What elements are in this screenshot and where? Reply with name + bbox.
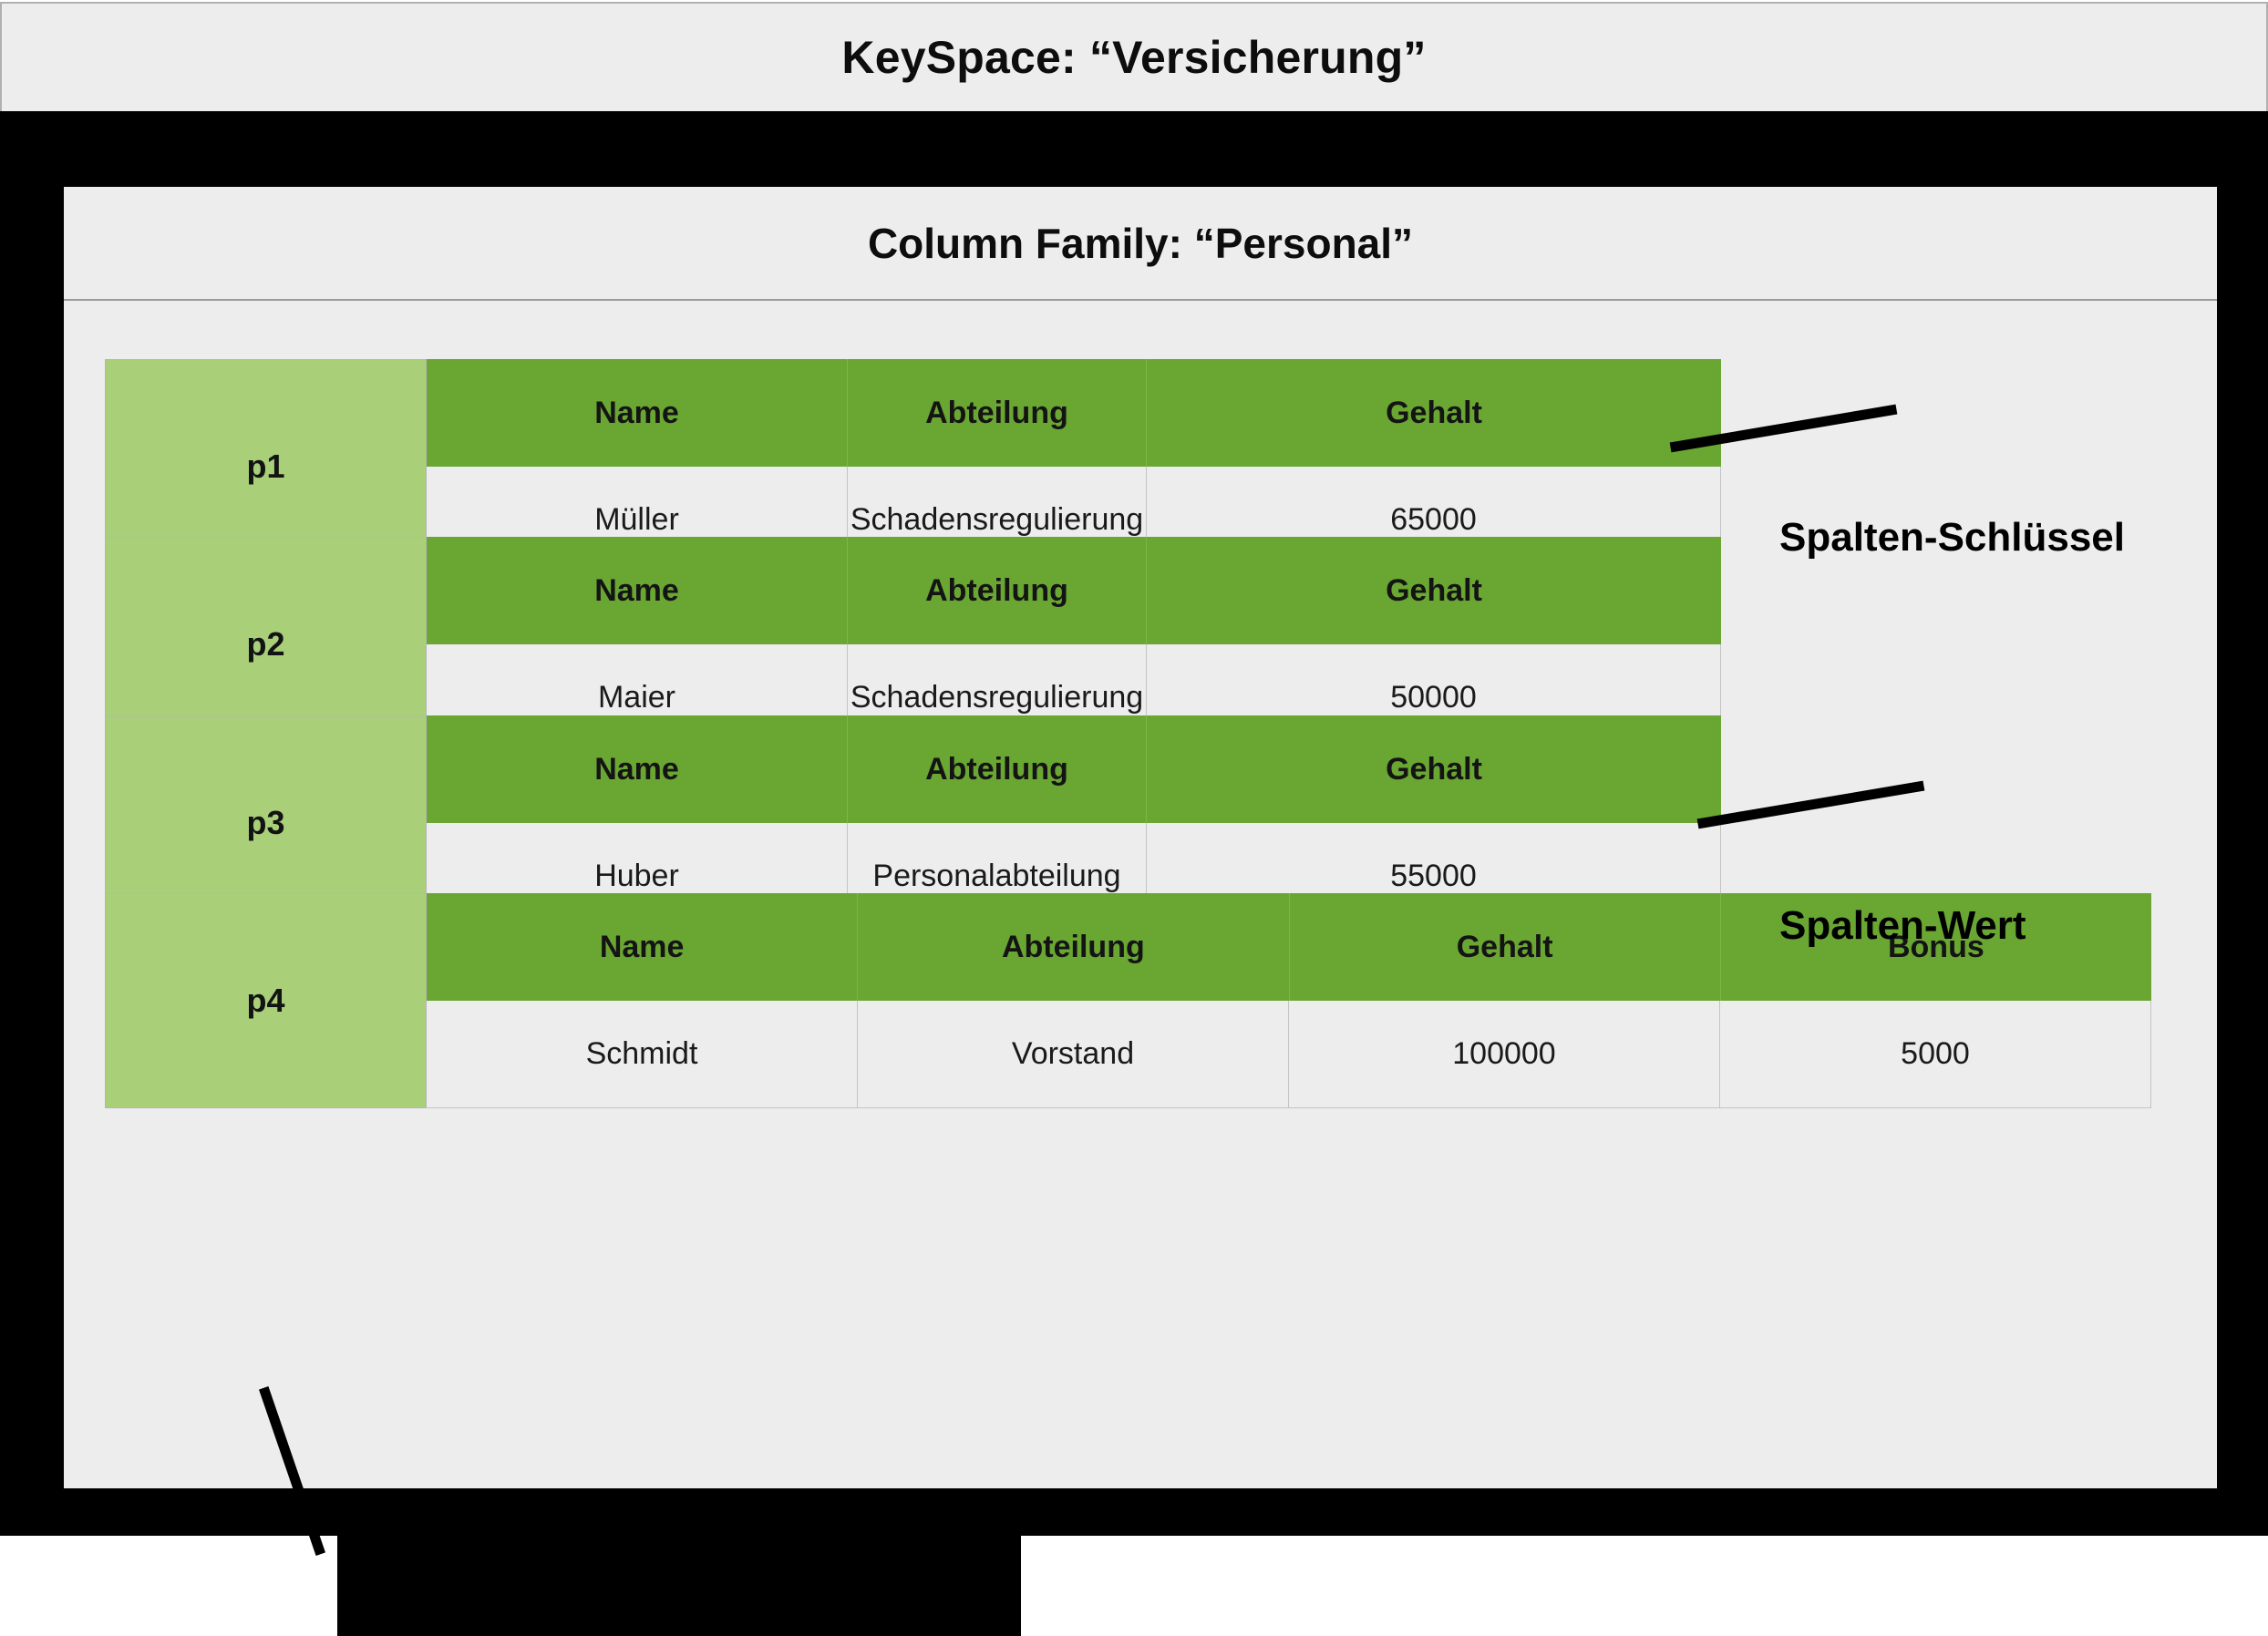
column-key-row: Name Abteilung Gehalt <box>427 359 1721 467</box>
column-value-label: 5000 <box>1901 1036 1970 1072</box>
row-key-label: p2 <box>246 625 284 664</box>
column-value-label: 50000 <box>1390 680 1477 715</box>
annotation-label: Spalten-Wert <box>1779 903 2026 948</box>
column-value-cell: Vorstand <box>858 1001 1289 1108</box>
column-family-header: Column Family: “Personal” <box>64 187 2217 301</box>
column-value-label: Huber <box>594 859 679 894</box>
column-key-label: Name <box>594 396 679 431</box>
monitor-foot <box>675 1613 811 1636</box>
column-key-cell: Gehalt <box>1290 893 1721 1001</box>
column-key-row: Name Abteilung Gehalt <box>427 715 1721 823</box>
column-key-label: Gehalt <box>1386 396 1482 431</box>
column-value-label: 55000 <box>1390 859 1477 894</box>
row-key-cell: p4 <box>105 893 427 1108</box>
column-key-cell: Name <box>427 359 848 467</box>
column-key-cell: Abteilung <box>848 715 1147 823</box>
monitor-screen: Column Family: “Personal” p1 Name Abteil… <box>64 187 2217 1488</box>
column-key-label: Gehalt <box>1386 573 1482 609</box>
column-key-cell: Abteilung <box>848 537 1147 644</box>
column-value-label: 100000 <box>1452 1036 1555 1072</box>
column-key-cell: Name <box>427 893 858 1001</box>
column-value-label: Schmidt <box>586 1036 698 1072</box>
column-value-label: Personalabteilung <box>872 859 1120 894</box>
annotation-spalten-schluessel: Spalten-Schlüssel <box>1779 515 2125 561</box>
column-value-label: Müller <box>594 502 679 538</box>
column-key-cell: Abteilung <box>858 893 1289 1001</box>
column-value-label: Vorstand <box>1012 1036 1134 1072</box>
column-value-cell: 5000 <box>1720 1001 2151 1108</box>
column-key-label: Name <box>600 930 685 965</box>
column-family-title: Column Family: “Personal” <box>868 219 1413 268</box>
row-key-label: p1 <box>246 448 284 486</box>
column-key-label: Gehalt <box>1457 930 1553 965</box>
column-key-cell: Gehalt <box>1147 715 1721 823</box>
row-key-label: p4 <box>246 982 284 1020</box>
column-key-label: Abteilung <box>1002 930 1145 965</box>
column-key-cell: Abteilung <box>848 359 1147 467</box>
diagram-canvas: KeySpace: “Versicherung” Column Family: … <box>0 0 2268 1636</box>
column-value-row: Schmidt Vorstand 100000 5000 <box>427 1001 2151 1108</box>
column-key-cell: Gehalt <box>1147 537 1721 644</box>
annotation-label: Spalten-Schlüssel <box>1779 515 2125 560</box>
column-key-label: Gehalt <box>1386 752 1482 787</box>
keyspace-title: KeySpace: “Versicherung” <box>841 31 1426 84</box>
column-key-label: Abteilung <box>925 573 1068 609</box>
column-key-cell: Gehalt <box>1147 359 1721 467</box>
column-value-label: Maier <box>598 680 675 715</box>
column-value-label: Schadensregulierung <box>850 502 1143 538</box>
column-value-label: 65000 <box>1390 502 1477 538</box>
annotation-spalten-wert: Spalten-Wert <box>1779 903 2026 949</box>
column-key-label: Abteilung <box>925 396 1068 431</box>
row-key-label: p3 <box>246 804 284 842</box>
column-key-label: Abteilung <box>925 752 1068 787</box>
column-key-cell: Name <box>427 537 848 644</box>
column-key-label: Name <box>594 752 679 787</box>
keyspace-band: KeySpace: “Versicherung” <box>0 2 2268 111</box>
column-value-cell: Schmidt <box>427 1001 858 1108</box>
column-value-cell: 100000 <box>1289 1001 1720 1108</box>
column-value-label: Schadensregulierung <box>850 680 1143 715</box>
column-key-cell: Name <box>427 715 848 823</box>
column-key-label: Name <box>594 573 679 609</box>
column-key-row: Name Abteilung Gehalt <box>427 537 1721 644</box>
